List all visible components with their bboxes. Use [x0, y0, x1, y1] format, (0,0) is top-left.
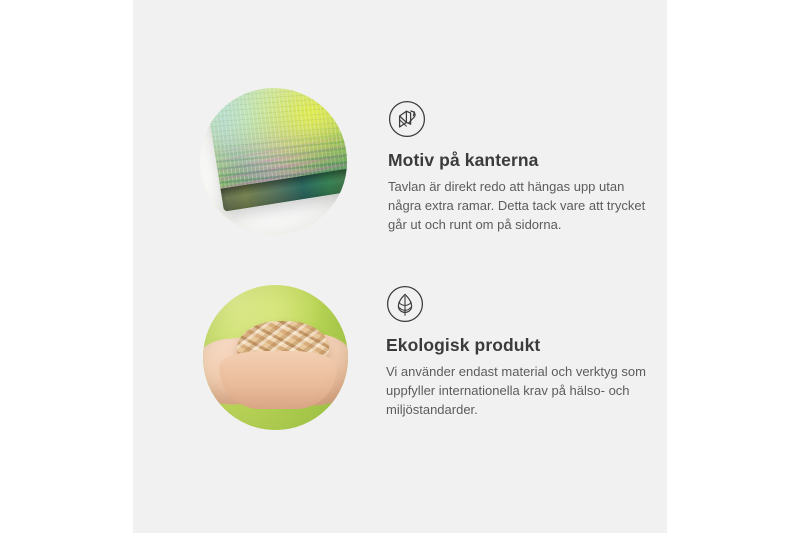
feature-block-canvas-edges: Motiv på kanterna Tavlan är direkt redo …	[200, 88, 656, 235]
canvas-print-corner-photo	[200, 88, 347, 235]
canvas-edge-print-icon	[388, 100, 426, 138]
wood-chips-in-hands-photo	[203, 285, 348, 430]
feature-body-eco-product: Vi använder endast material och verktyg …	[386, 363, 646, 420]
feature-title-eco-product: Ekologisk produkt	[386, 335, 654, 356]
product-feature-page: Motiv på kanterna Tavlan är direkt redo …	[0, 0, 800, 533]
leaf-icon	[386, 285, 424, 323]
content-panel	[133, 0, 667, 533]
canvas-print-block	[206, 88, 347, 212]
feature-title-canvas-edges: Motiv på kanterna	[388, 150, 656, 171]
feature-body-canvas-edges: Tavlan är direkt redo att hängas upp uta…	[388, 178, 648, 235]
cupped-palms	[219, 351, 337, 409]
feature-block-eco-product: Ekologisk produkt Vi använder endast mat…	[203, 285, 654, 430]
feature-text-column-canvas-edges: Motiv på kanterna Tavlan är direkt redo …	[388, 88, 656, 235]
feature-text-column-eco-product: Ekologisk produkt Vi använder endast mat…	[386, 285, 654, 420]
